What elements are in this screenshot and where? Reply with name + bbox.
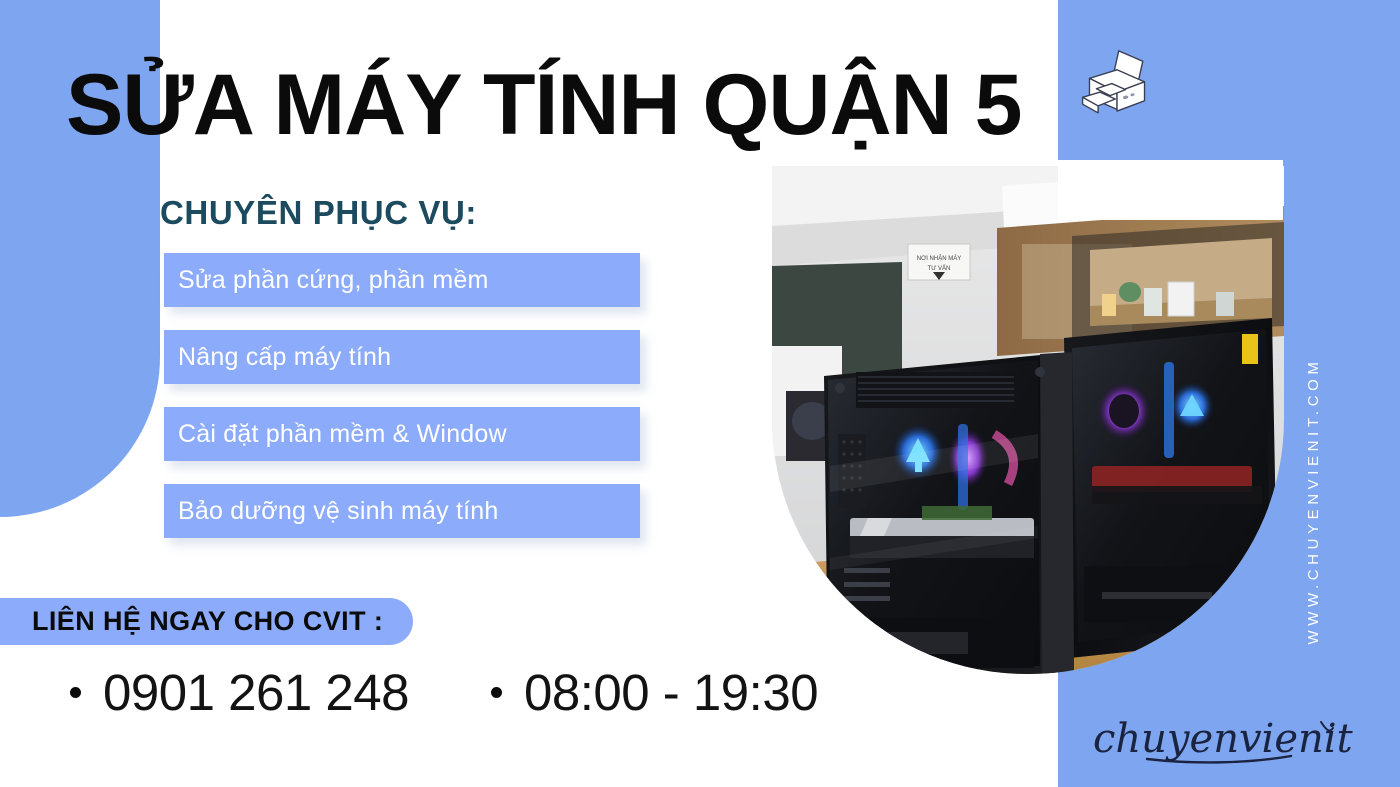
brand-signature-logo: chuyenvienit [1085,712,1375,774]
shop-photo: THIẾT BỊ VĂN NƠI N [772,166,1284,674]
svg-text:NƠI NHẬN MÁY: NƠI NHẬN MÁY [917,255,961,262]
contact-cta-label: LIÊN HỆ NGAY CHO CVIT : [32,606,383,637]
service-item[interactable]: Nâng cấp máy tính [164,330,640,384]
brand-signature-text: chuyenvienit [1093,716,1354,762]
service-item[interactable]: Bảo dưỡng vệ sinh máy tính [164,484,640,538]
service-item-label: Cài đặt phần mềm & Window [164,420,507,449]
service-item-label: Bảo dưỡng vệ sinh máy tính [164,497,498,526]
right-panel-notch [1058,160,1283,220]
contact-cta-pill[interactable]: LIÊN HỆ NGAY CHO CVIT : [0,598,413,645]
printer-icon [1074,44,1160,130]
services-heading: CHUYÊN PHỤC VỤ: [160,194,477,232]
service-item-label: Sửa phần cứng, phần mềm [164,266,488,295]
contact-hours-value: 08:00 - 19:30 [524,663,818,722]
bullet-icon [70,687,81,698]
page-title: SỬA MÁY TÍNH QUẬN 5 [66,62,1026,148]
printer-icon-box [1058,14,1175,160]
service-item[interactable]: Cài đặt phần mềm & Window [164,407,640,461]
service-item-label: Nâng cấp máy tính [164,343,391,372]
contact-hours: 08:00 - 19:30 [491,663,818,722]
services-list: Sửa phần cứng, phần mềm Nâng cấp máy tín… [164,253,640,561]
shop-photo-image: THIẾT BỊ VĂN NƠI N [772,166,1284,674]
poster-canvas: THIẾT BỊ VĂN NƠI N [0,0,1400,787]
contact-phone-value: 0901 261 248 [103,663,409,722]
contact-phone[interactable]: 0901 261 248 [70,663,409,722]
website-vertical-text[interactable]: WWW.CHUYENVIENIT.COM [1305,336,1322,666]
bullet-icon [491,687,502,698]
service-item[interactable]: Sửa phần cứng, phần mềm [164,253,640,307]
svg-text:TƯ VẤN: TƯ VẤN [928,265,951,272]
contact-values: 0901 261 248 08:00 - 19:30 [70,663,818,722]
